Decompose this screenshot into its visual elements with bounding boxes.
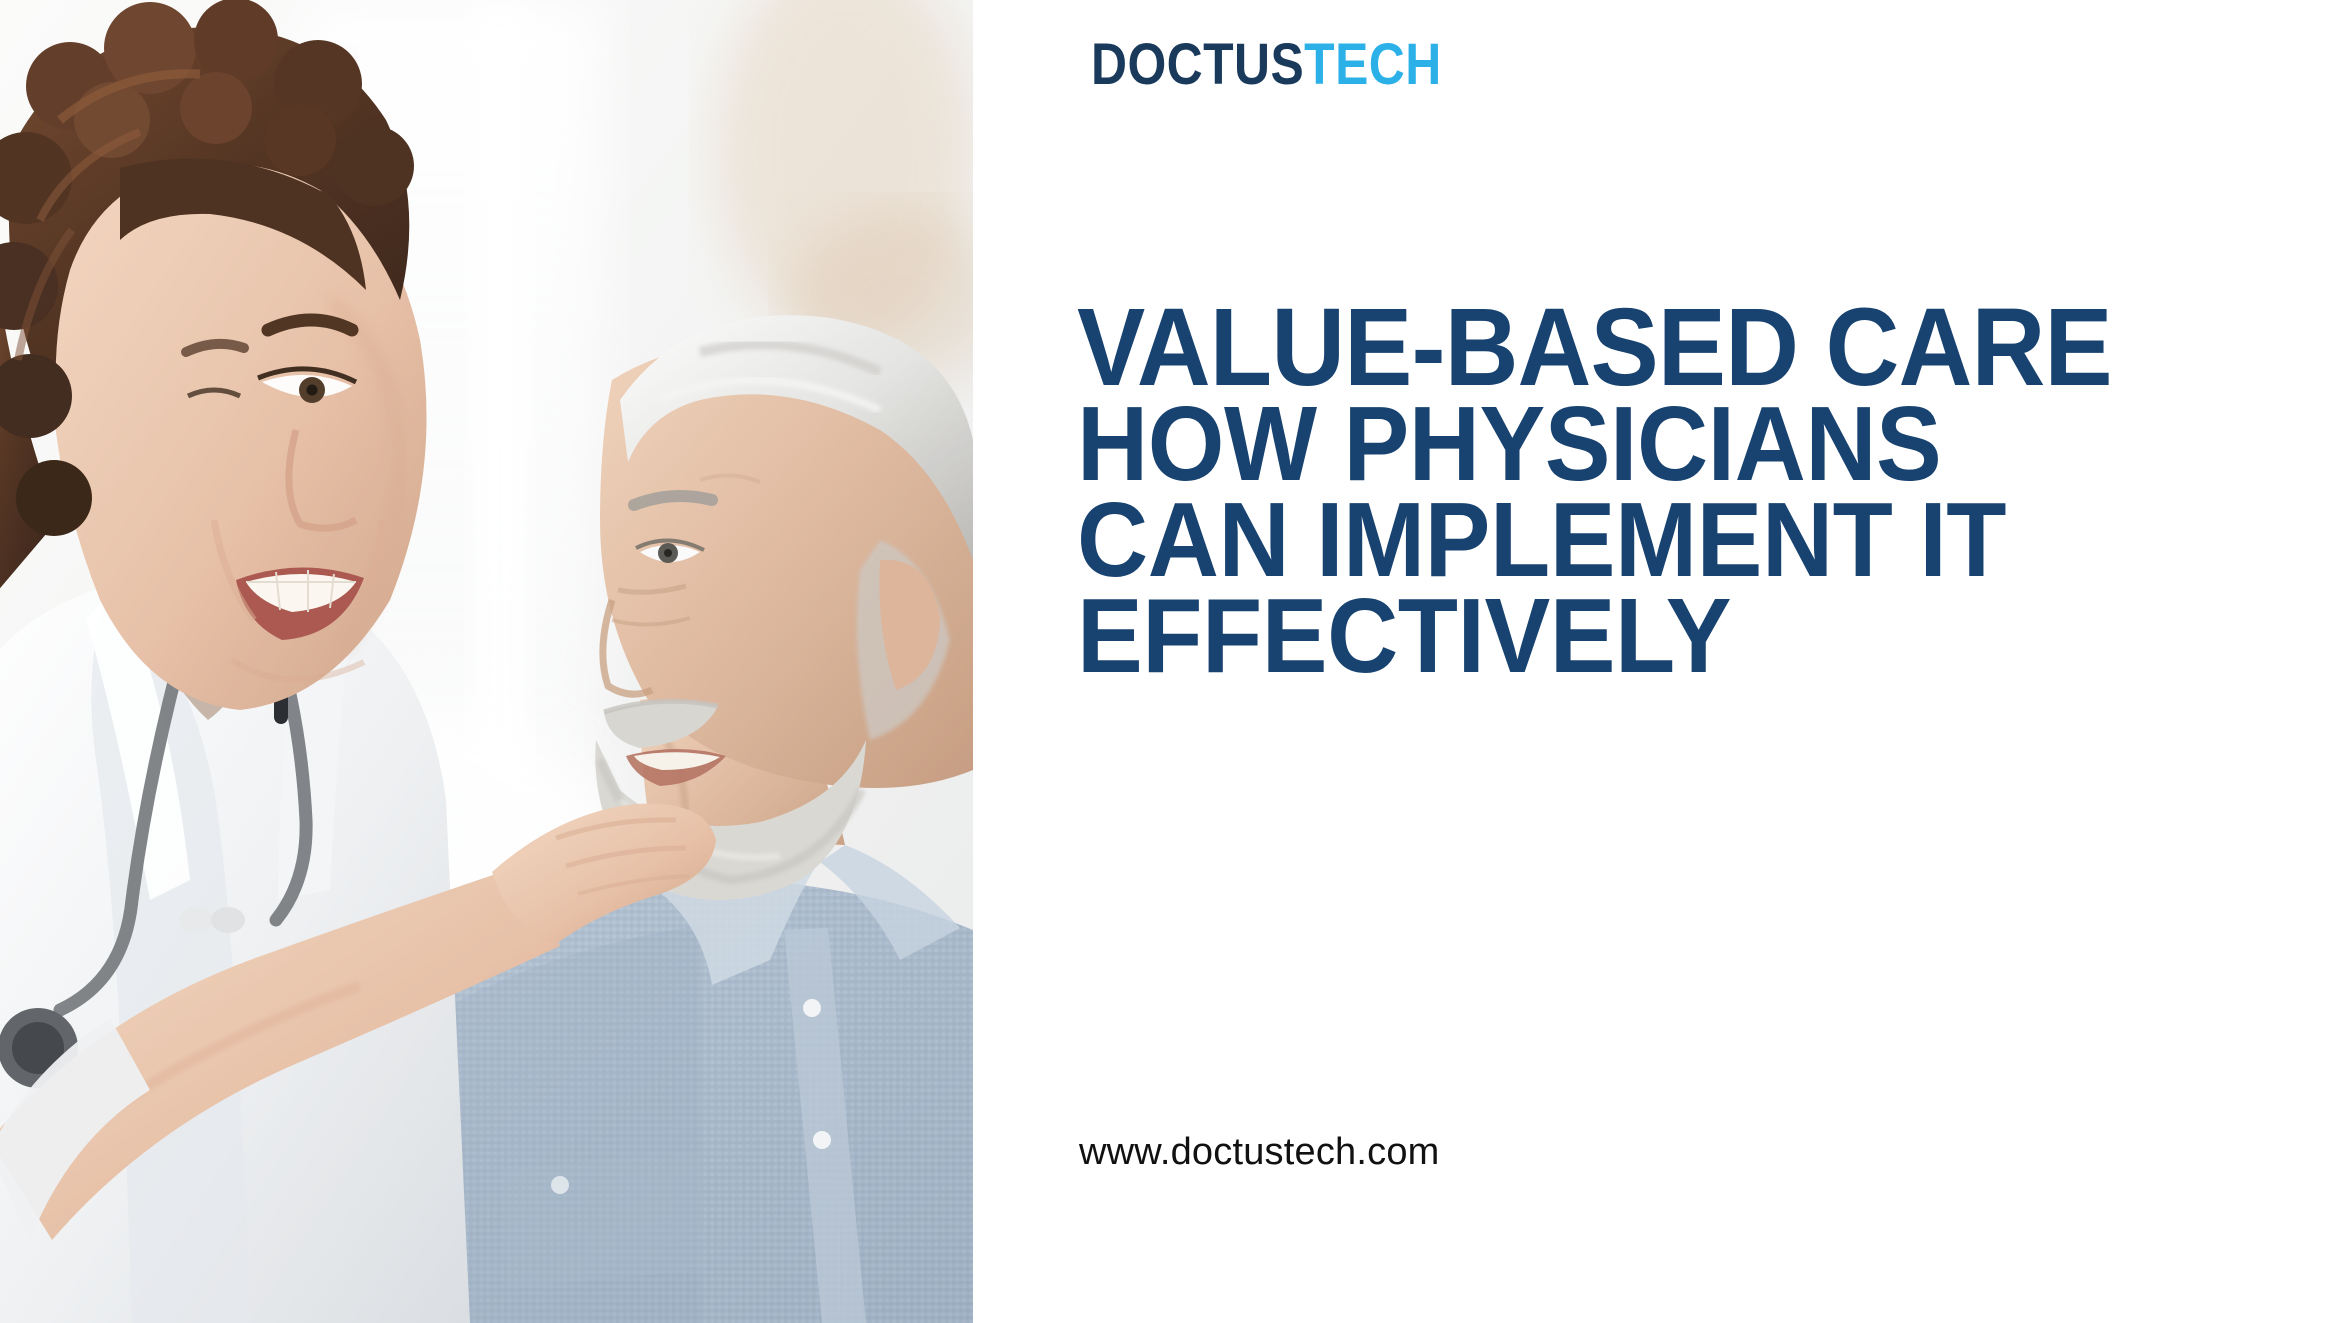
doctor-patient-photo [0, 0, 973, 1323]
headline-line-4: EFFECTIVELY [1077, 588, 2230, 684]
marketing-banner: DOCTUSTECH VALUE-BASED CARE HOW PHYSICIA… [0, 0, 2352, 1323]
hero-photo [0, 0, 973, 1323]
headline-line-1: VALUE-BASED CARE [1077, 300, 2230, 396]
headline-line-3: CAN IMPLEMENT IT [1077, 492, 2230, 588]
doctustech-logo[interactable]: DOCTUSTECH [1091, 36, 1442, 94]
website-url[interactable]: www.doctustech.com [1079, 1131, 1440, 1174]
headline-line-2: HOW PHYSICIANS [1077, 396, 2230, 492]
content-panel: DOCTUSTECH VALUE-BASED CARE HOW PHYSICIA… [973, 0, 2352, 1323]
logo-text-primary: DOCTUS [1091, 32, 1304, 97]
logo-text-secondary: TECH [1304, 32, 1442, 97]
headline-block: VALUE-BASED CARE HOW PHYSICIANS CAN IMPL… [1077, 300, 2317, 684]
